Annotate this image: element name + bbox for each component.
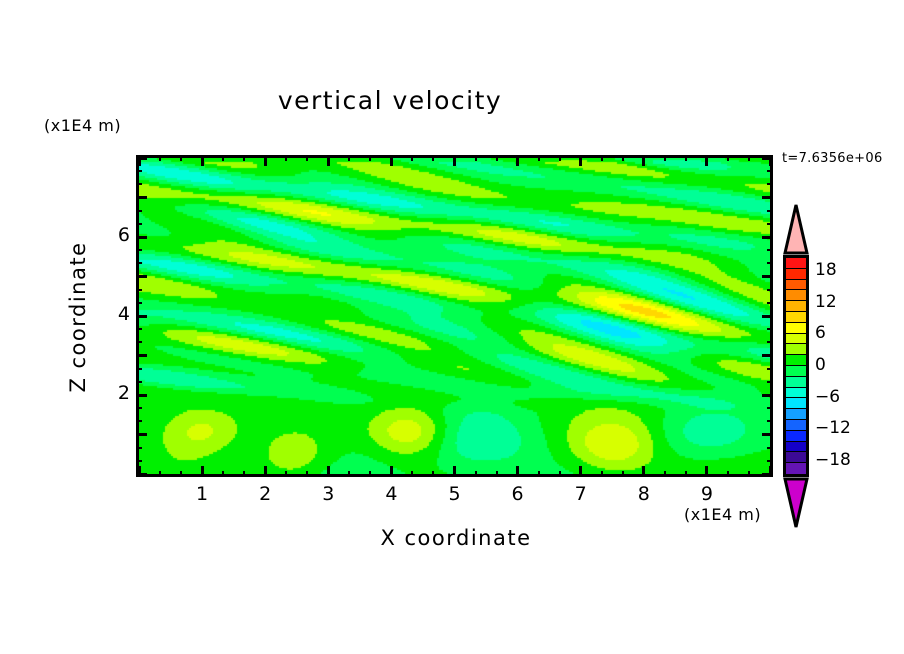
colorbar-tick-label: 0: [815, 355, 826, 375]
x-axis-title: X coordinate: [0, 526, 904, 550]
x-tick-label: 5: [435, 483, 475, 505]
x-tick-label: 2: [245, 483, 285, 505]
colorbar-tick-label: 6: [815, 323, 826, 343]
y-tick-label: 4: [90, 303, 130, 325]
colorbar-band: [786, 452, 806, 463]
colorbar-bottom-arrow-icon: [783, 477, 809, 529]
contour-field-canvas: [139, 158, 770, 474]
y-tick-label: 2: [90, 382, 130, 404]
colorbar-band: [786, 301, 806, 312]
colorbar-tick-label: 12: [815, 292, 837, 312]
colorbar-band-stack: [783, 255, 809, 477]
colorbar-band: [786, 290, 806, 301]
x-tick-label: 4: [371, 483, 411, 505]
contour-plot-area[interactable]: [136, 155, 773, 477]
colorbar-band: [786, 366, 806, 377]
colorbar-band: [786, 420, 806, 431]
colorbar-tick-label: −12: [815, 418, 851, 438]
colorbar-band: [786, 312, 806, 323]
x-tick-label: 1: [182, 483, 222, 505]
colorbar-band: [786, 388, 806, 399]
colorbar-band: [786, 269, 806, 280]
colorbar-band: [786, 334, 806, 345]
colorbar-band: [786, 377, 806, 388]
colorbar-band: [786, 463, 806, 474]
x-tick-label: 7: [561, 483, 601, 505]
colorbar-band: [786, 258, 806, 269]
x-axis-unit-label: (x1E4 m): [684, 505, 761, 524]
colorbar-band: [786, 431, 806, 442]
colorbar-band: [786, 398, 806, 409]
time-annotation: t=7.6356e+06: [782, 151, 883, 166]
colorbar-band: [786, 442, 806, 453]
colorbar-band: [786, 323, 806, 334]
colorbar-band: [786, 280, 806, 291]
x-tick-label: 6: [498, 483, 538, 505]
colorbar-top-arrow-icon: [783, 203, 809, 255]
y-axis-unit-label: (x1E4 m): [44, 116, 121, 135]
x-tick-label: 9: [687, 483, 727, 505]
y-tick-label: 6: [90, 224, 130, 246]
colorbar-tick-label: 18: [815, 260, 837, 280]
y-axis-tick-labels: 246: [86, 155, 130, 477]
colorbar-band: [786, 409, 806, 420]
x-tick-label: 3: [308, 483, 348, 505]
x-tick-label: 8: [624, 483, 664, 505]
colorbar-tick-label: −6: [815, 387, 840, 407]
colorbar-tick-label: −18: [815, 450, 851, 470]
colorbar-band: [786, 344, 806, 355]
colorbar[interactable]: 181260−6−12−18: [779, 203, 899, 523]
page-title: vertical velocity: [0, 86, 780, 115]
colorbar-band: [786, 355, 806, 366]
